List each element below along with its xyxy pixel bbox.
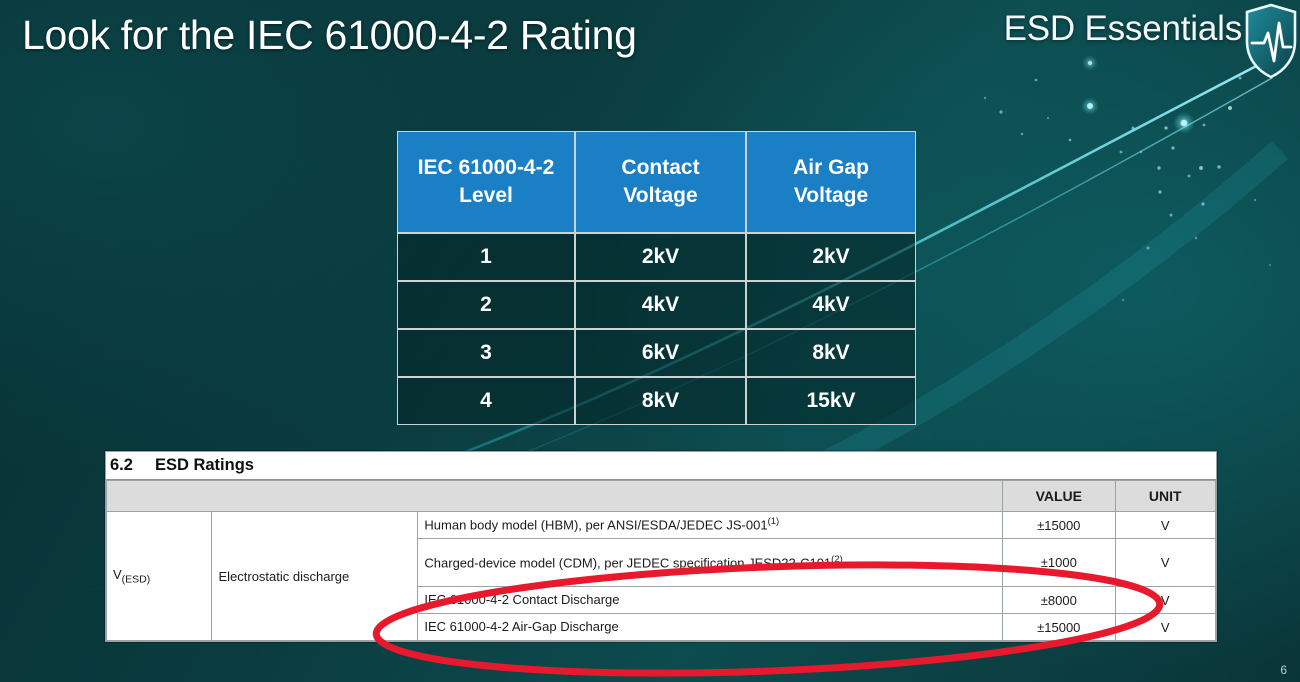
column-header-air-gap-voltage: Air Gap Voltage — [746, 131, 916, 233]
cell-level: 4 — [397, 377, 575, 425]
cell-level: 1 — [397, 233, 575, 281]
cell-unit: V — [1115, 614, 1215, 641]
cell-airgap: 2kV — [746, 233, 916, 281]
description-text: Charged-device model (CDM), per JEDEC sp… — [424, 555, 831, 570]
table-header-row: IEC 61000-4-2 Level Contact Voltage Air … — [397, 131, 916, 233]
datasheet-header-row: VALUE UNIT — [107, 481, 1216, 512]
slide-canvas: Look for the IEC 61000-4-2 Rating ESD Es… — [0, 0, 1300, 682]
cell-value: ±1000 — [1003, 539, 1116, 587]
description-text: Human body model (HBM), per ANSI/ESDA/JE… — [424, 518, 767, 533]
table-row: 2 4kV 4kV — [397, 281, 916, 329]
section-number: 6.2 — [110, 456, 133, 475]
shield-pulse-icon — [1244, 3, 1298, 79]
esd-ratings-table: VALUE UNIT V(ESD) Electrostatic discharg… — [106, 480, 1216, 641]
cell-airgap: 8kV — [746, 329, 916, 377]
symbol-subscript: (ESD) — [122, 573, 151, 585]
cell-description: IEC 61000-4-2 Contact Discharge — [418, 587, 1003, 614]
page-title: Look for the IEC 61000-4-2 Rating — [22, 12, 637, 59]
column-header-level: IEC 61000-4-2 Level — [397, 131, 575, 233]
cell-value: ±15000 — [1003, 614, 1116, 641]
cell-parameter: Electrostatic discharge — [212, 512, 418, 641]
column-header-value: VALUE — [1003, 481, 1116, 512]
table-row: 4 8kV 15kV — [397, 377, 916, 425]
cell-airgap: 4kV — [746, 281, 916, 329]
cell-contact: 4kV — [575, 281, 746, 329]
sparkle-dots — [984, 61, 1271, 301]
datasheet-excerpt: 6.2 ESD Ratings VALUE UNIT V(ESD) — [105, 451, 1217, 642]
sparkle-glows — [1081, 55, 1195, 134]
table-row: 3 6kV 8kV — [397, 329, 916, 377]
cell-description: IEC 61000-4-2 Air-Gap Discharge — [418, 614, 1003, 641]
cell-level: 2 — [397, 281, 575, 329]
section-title: ESD Ratings — [155, 456, 254, 475]
cell-unit: V — [1115, 587, 1215, 614]
footnote-marker: (2) — [831, 554, 843, 565]
cell-symbol: V(ESD) — [107, 512, 212, 641]
cell-value: ±8000 — [1003, 587, 1116, 614]
cell-contact: 6kV — [575, 329, 746, 377]
cell-description: Charged-device model (CDM), per JEDEC sp… — [418, 539, 1003, 587]
column-header-blank — [107, 481, 1003, 512]
cell-description: Human body model (HBM), per ANSI/ESDA/JE… — [418, 512, 1003, 539]
page-number: 6 — [1280, 663, 1287, 677]
cell-contact: 2kV — [575, 233, 746, 281]
column-header-unit: UNIT — [1115, 481, 1215, 512]
cell-value: ±15000 — [1003, 512, 1116, 539]
cell-unit: V — [1115, 512, 1215, 539]
cell-level: 3 — [397, 329, 575, 377]
table-row: V(ESD) Electrostatic discharge Human bod… — [107, 512, 1216, 539]
column-header-contact-voltage: Contact Voltage — [575, 131, 746, 233]
brand-name: ESD Essentials — [1004, 9, 1242, 49]
cell-airgap: 15kV — [746, 377, 916, 425]
cell-unit: V — [1115, 539, 1215, 587]
iec-level-table: IEC 61000-4-2 Level Contact Voltage Air … — [397, 131, 916, 425]
footnote-marker: (1) — [768, 516, 780, 527]
datasheet-section-heading: 6.2 ESD Ratings — [106, 452, 1216, 480]
brand-logo: ESD Essentials — [1004, 9, 1242, 49]
cell-contact: 8kV — [575, 377, 746, 425]
symbol-text: V — [113, 567, 122, 582]
table-row: 1 2kV 2kV — [397, 233, 916, 281]
